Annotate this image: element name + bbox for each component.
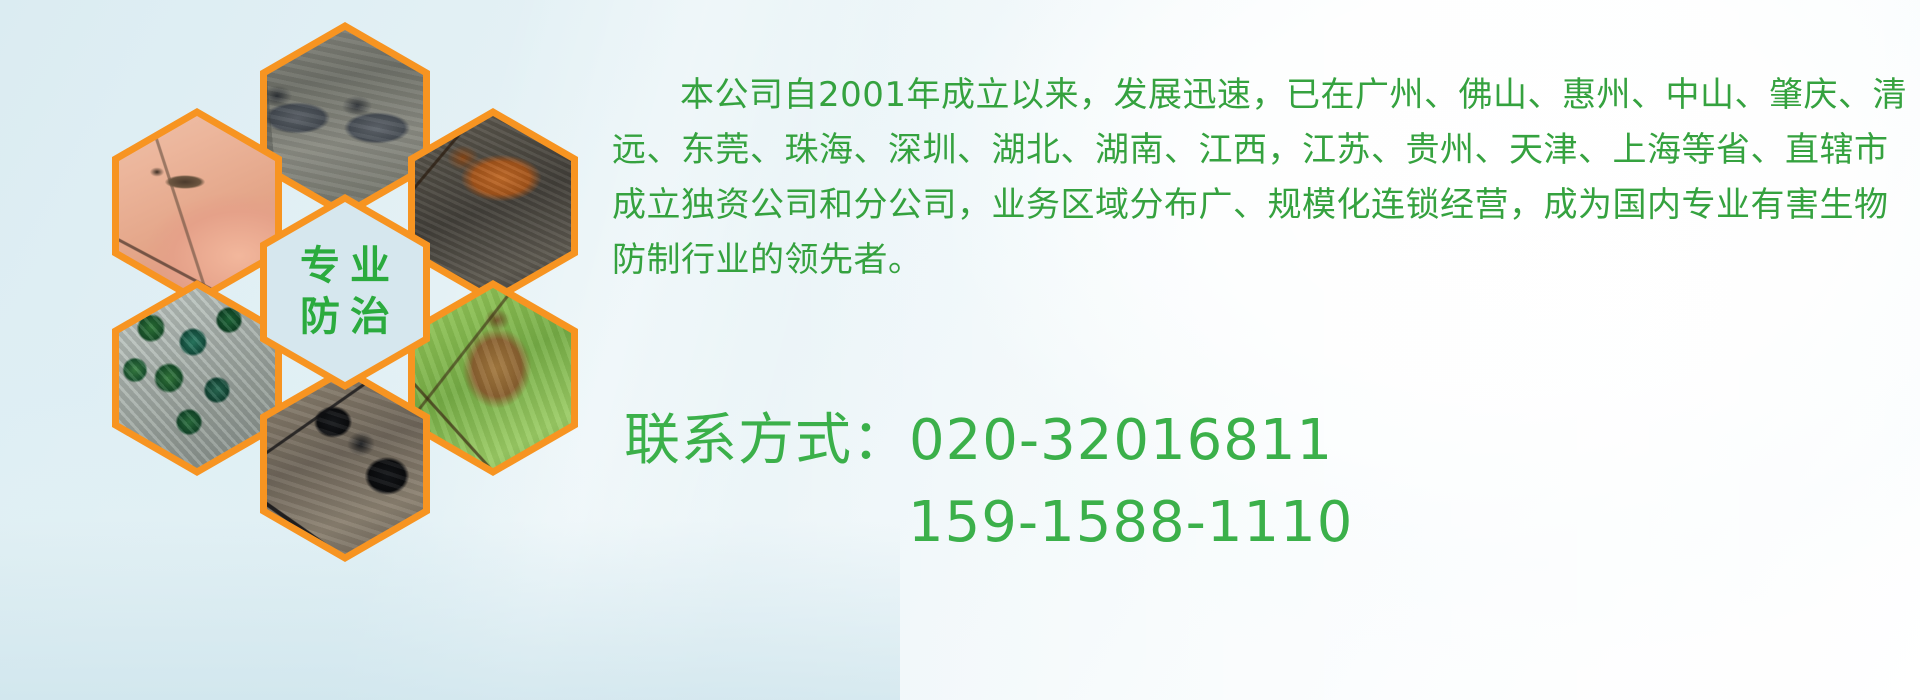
hex-photo-mosquito — [112, 108, 282, 304]
mosquito-photo — [119, 116, 275, 296]
ant-photo — [267, 374, 423, 554]
stinkbug-photo — [415, 288, 571, 468]
hex-slogan-text: 专业 防治 — [267, 202, 423, 382]
hex-photo-stinkbug-frame — [415, 288, 571, 468]
hex-photo-rats — [260, 22, 430, 218]
hex-slogan-frame: 专业 防治 — [267, 202, 423, 382]
slogan-line-2: 防治 — [290, 295, 400, 340]
cockroach-photo — [415, 116, 571, 296]
rats-photo — [267, 30, 423, 210]
contact-phone-primary: 联系方式：020-32016811 — [600, 400, 1920, 482]
hex-photo-flies-frame — [119, 288, 275, 468]
hex-photo-flies — [112, 280, 282, 476]
contact-phone-secondary: 159-1588-1110 — [600, 482, 1920, 564]
hex-slogan-badge: 专业 防治 — [260, 194, 430, 390]
hex-photo-cockroach-frame — [415, 116, 571, 296]
hex-photo-ant — [260, 366, 430, 562]
slogan-line-1: 专业 — [290, 244, 400, 289]
banner-content: 本公司自2001年成立以来，发展迅速，已在广州、佛山、惠州、中山、肇庆、清远、东… — [600, 0, 1920, 700]
company-description: 本公司自2001年成立以来，发展迅速，已在广州、佛山、惠州、中山、肇庆、清远、东… — [612, 68, 1920, 288]
promo-banner: 专业 防治 本公司自2001年成立以来，发展迅速，已在广州、佛山、惠州、中山、肇… — [0, 0, 1920, 700]
hex-photo-mosquito-frame — [119, 116, 275, 296]
hex-photo-stinkbug — [408, 280, 578, 476]
hex-photo-ant-frame — [267, 374, 423, 554]
hex-photo-cockroach — [408, 108, 578, 304]
hex-photo-rats-frame — [267, 30, 423, 210]
contact-block: 联系方式：020-32016811 159-1588-1110 — [600, 400, 1920, 564]
flies-photo — [119, 288, 275, 468]
hexagon-photo-cluster: 专业 防治 — [90, 8, 590, 568]
